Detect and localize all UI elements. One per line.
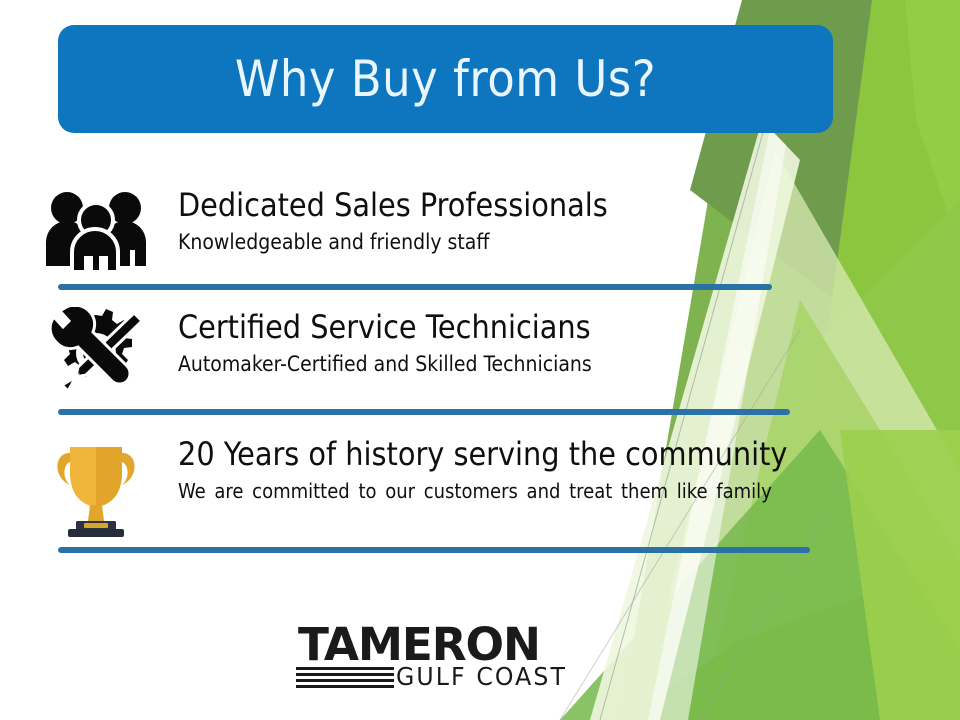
trophy-icon xyxy=(40,437,152,537)
page-title: Why Buy from Us? xyxy=(235,50,656,108)
divider-1 xyxy=(58,284,772,290)
feature-subtext: Knowledgeable and friendly staff xyxy=(178,230,878,254)
wrench-gear-icon xyxy=(40,310,152,396)
divider-3 xyxy=(58,547,810,553)
feature-3-text: 20 Years of history serving the communit… xyxy=(178,437,878,503)
feature-heading: 20 Years of history serving the communit… xyxy=(178,437,878,472)
slide-canvas: Why Buy from Us? Dedicated Sales Profess… xyxy=(0,0,960,720)
feature-subtext: Automaker-Certified and Skilled Technici… xyxy=(178,352,878,376)
tameron-logo: TAMERON GULF COAST xyxy=(292,622,564,692)
logo-subtitle: GULF COAST xyxy=(396,664,567,689)
slide-title-banner: Why Buy from Us? xyxy=(58,25,833,133)
divider-2 xyxy=(58,409,790,415)
feature-1-text: Dedicated Sales Professionals Knowledgea… xyxy=(178,188,878,254)
people-group-icon xyxy=(40,188,152,274)
logo-wordmark: TAMERON xyxy=(298,622,540,667)
feature-subtext: We are committed to our customers and tr… xyxy=(178,479,878,503)
feature-heading: Certified Service Technicians xyxy=(178,310,878,345)
feature-heading: Dedicated Sales Professionals xyxy=(178,188,878,223)
logo-stripes-icon xyxy=(296,667,394,689)
feature-2-text: Certified Service Technicians Automaker-… xyxy=(178,310,878,376)
